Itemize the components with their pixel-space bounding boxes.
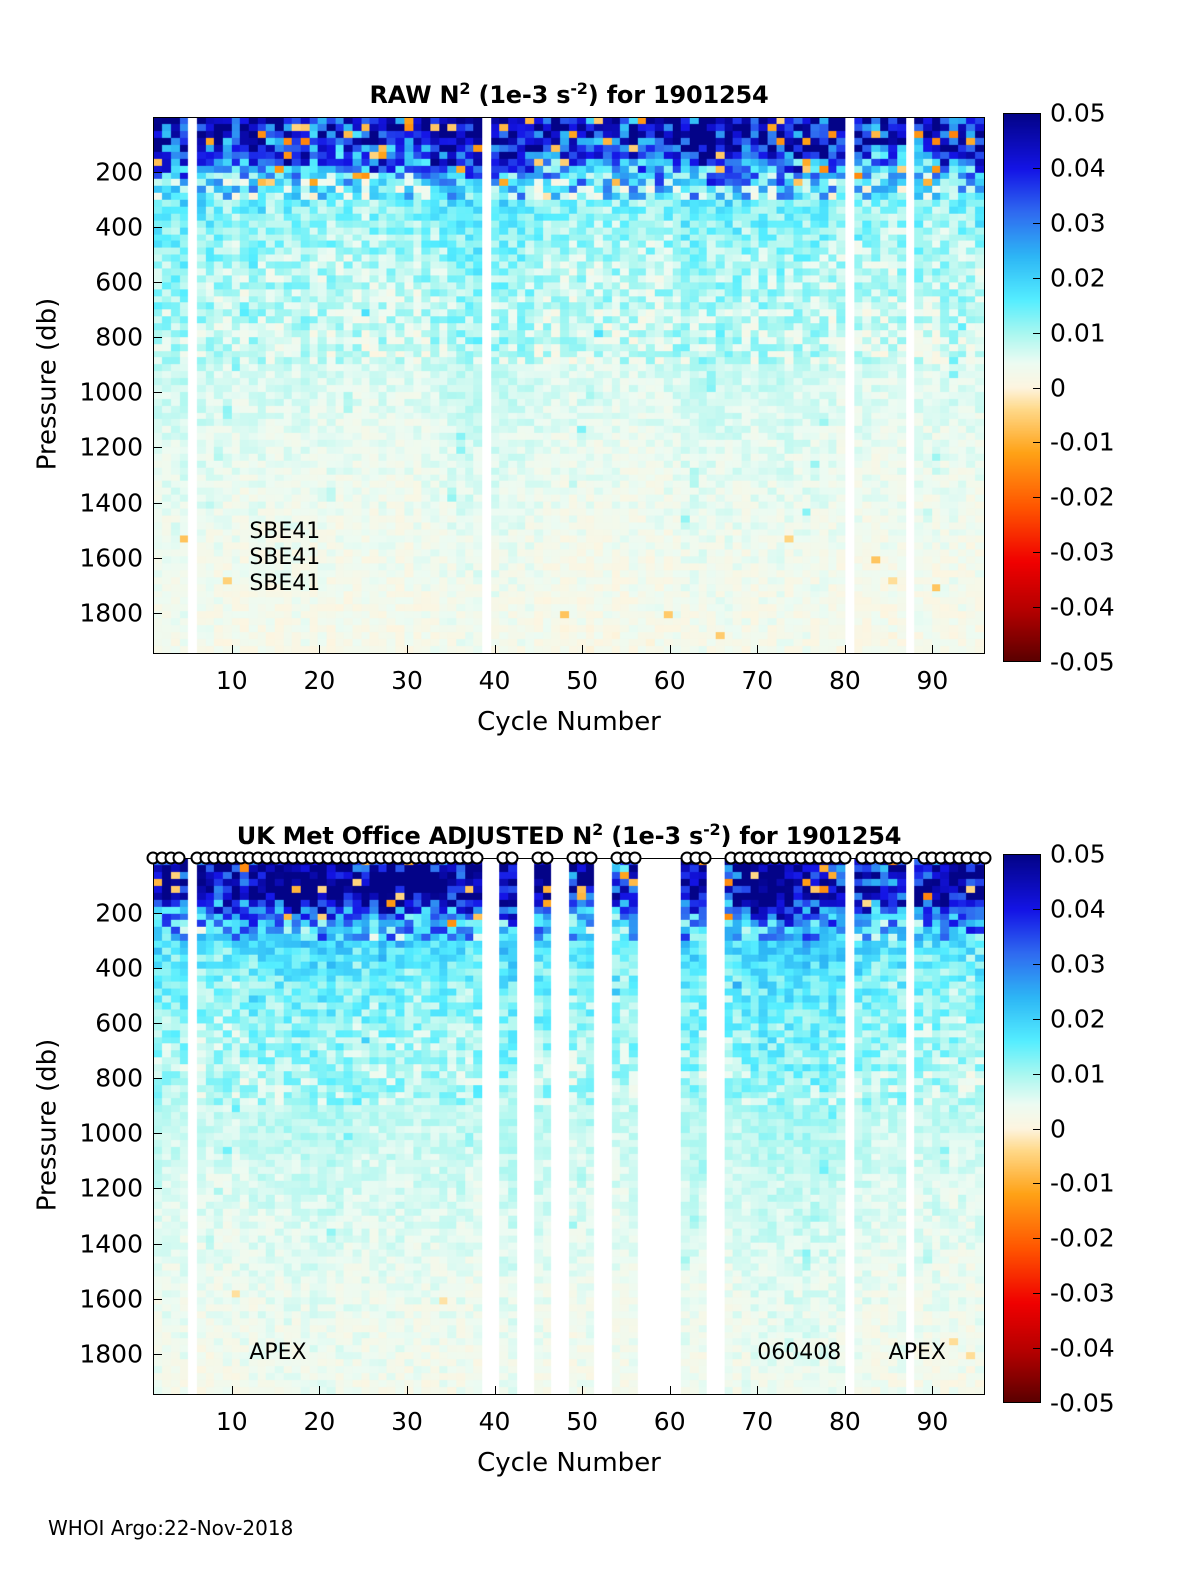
- x-tick-label: 70: [741, 1407, 773, 1436]
- y-tick-mark: [153, 227, 162, 228]
- y-tick-mark: [153, 913, 162, 914]
- y-tick-mark: [153, 1188, 162, 1189]
- plot-annotation: SBE41: [249, 519, 320, 544]
- colorbar-tick-mark: [1033, 333, 1041, 334]
- colorbar-tick-label: -0.03: [1050, 1279, 1115, 1308]
- y-tick-label: 600: [57, 268, 143, 297]
- title-text-mid: (1e-3 s: [470, 81, 570, 109]
- colorbar-tick-label: -0.01: [1050, 428, 1115, 457]
- y-tick-label: 1600: [57, 1284, 143, 1313]
- x-tick-mark: [407, 645, 408, 654]
- y-tick-mark: [153, 1078, 162, 1079]
- x-tick-mark: [407, 1386, 408, 1395]
- title-superscript-1: 2: [592, 820, 603, 839]
- y-tick-label: 400: [57, 954, 143, 983]
- colorbar-tick-mark: [1033, 223, 1041, 224]
- x-tick-label: 90: [917, 1407, 949, 1436]
- y-tick-mark: [153, 282, 162, 283]
- plot-annotation: SBE41: [249, 571, 320, 596]
- x-tick-label: 40: [479, 1407, 511, 1436]
- title-text-main: UK Met Office ADJUSTED N: [237, 822, 592, 850]
- panel-raw-title: RAW N2 (1e-3 s-2) for 1901254: [153, 79, 985, 109]
- colorbar-tick-label: 0.02: [1050, 1004, 1106, 1033]
- colorbar-tick-label: 0.04: [1050, 153, 1106, 182]
- x-tick-mark: [670, 645, 671, 654]
- colorbar-tick-label: 0.01: [1050, 1059, 1106, 1088]
- title-superscript-2: -2: [570, 79, 587, 98]
- colorbar-tick-mark: [1033, 964, 1041, 965]
- y-tick-label: 1200: [57, 433, 143, 462]
- y-tick-mark: [153, 392, 162, 393]
- colorbar-tick-label: 0.05: [1050, 99, 1106, 128]
- colorbar-tick-label: 0.05: [1050, 840, 1106, 869]
- title-text-end: ) for 1901254: [720, 822, 901, 850]
- x-tick-label: 80: [829, 1407, 861, 1436]
- y-tick-mark: [153, 1244, 162, 1245]
- colorbar-tick-mark: [1033, 1074, 1041, 1075]
- x-tick-label: 10: [216, 666, 248, 695]
- title-text-end: ) for 1901254: [588, 81, 769, 109]
- x-tick-mark: [582, 645, 583, 654]
- y-tick-label: 1400: [57, 488, 143, 517]
- title-text-mid: (1e-3 s: [603, 822, 703, 850]
- x-tick-mark: [757, 645, 758, 654]
- colorbar-tick-label: 0.03: [1050, 208, 1106, 237]
- x-tick-label: 90: [917, 666, 949, 695]
- y-tick-label: 1800: [57, 598, 143, 627]
- colorbar-tick-mark: [1033, 1129, 1041, 1130]
- panel-adjusted-title: UK Met Office ADJUSTED N2 (1e-3 s-2) for…: [153, 820, 985, 850]
- x-tick-label: 70: [741, 666, 773, 695]
- x-tick-mark: [932, 645, 933, 654]
- x-tick-label: 60: [654, 666, 686, 695]
- plot-annotation: APEX: [889, 1340, 946, 1365]
- x-tick-mark: [319, 1386, 320, 1395]
- y-tick-mark: [153, 613, 162, 614]
- colorbar-tick-label: 0.02: [1050, 263, 1106, 292]
- y-tick-label: 400: [57, 213, 143, 242]
- x-tick-label: 40: [479, 666, 511, 695]
- y-tick-mark: [153, 503, 162, 504]
- colorbar-tick-label: 0.04: [1050, 894, 1106, 923]
- colorbar-tick-mark: [1033, 909, 1041, 910]
- x-axis-label-adjusted: Cycle Number: [153, 1448, 985, 1478]
- y-tick-mark: [153, 558, 162, 559]
- x-tick-label: 50: [566, 666, 598, 695]
- x-tick-label: 20: [303, 666, 335, 695]
- y-tick-mark: [153, 1354, 162, 1355]
- x-tick-mark: [757, 1386, 758, 1395]
- x-tick-label: 50: [566, 1407, 598, 1436]
- colorbar-tick-mark: [1033, 442, 1041, 443]
- x-tick-label: 10: [216, 1407, 248, 1436]
- x-tick-mark: [932, 1386, 933, 1395]
- colorbar-tick-mark: [1033, 1293, 1041, 1294]
- figure-footer: WHOI Argo:22-Nov-2018: [48, 1516, 293, 1540]
- colorbar-tick-label: 0.03: [1050, 949, 1106, 978]
- y-tick-mark: [153, 1299, 162, 1300]
- title-superscript-2: -2: [703, 820, 720, 839]
- colorbar-tick-label: -0.04: [1050, 1334, 1115, 1363]
- title-text-main: RAW N: [370, 81, 460, 109]
- y-tick-mark: [153, 968, 162, 969]
- x-tick-label: 30: [391, 666, 423, 695]
- y-tick-mark: [153, 337, 162, 338]
- colorbar-tick-label: -0.05: [1050, 648, 1115, 677]
- x-tick-label: 30: [391, 1407, 423, 1436]
- x-tick-mark: [232, 1386, 233, 1395]
- x-tick-mark: [319, 645, 320, 654]
- panel-raw: RAW N2 (1e-3 s-2) for 1901254 Pressure (…: [0, 0, 1200, 760]
- x-axis-label-raw: Cycle Number: [153, 707, 985, 737]
- x-tick-label: 80: [829, 666, 861, 695]
- y-tick-mark: [153, 447, 162, 448]
- y-tick-label: 1400: [57, 1229, 143, 1258]
- title-superscript-1: 2: [459, 79, 470, 98]
- x-tick-mark: [495, 645, 496, 654]
- y-tick-label: 1200: [57, 1174, 143, 1203]
- colorbar-tick-label: -0.03: [1050, 538, 1115, 567]
- colorbar-tick-label: -0.02: [1050, 1224, 1115, 1253]
- colorbar-tick-label: -0.01: [1050, 1169, 1115, 1198]
- y-tick-mark: [153, 172, 162, 173]
- colorbar-tick-mark: [1033, 552, 1041, 553]
- y-tick-label: 800: [57, 1064, 143, 1093]
- colorbar-tick-mark: [1033, 168, 1041, 169]
- x-tick-mark: [670, 1386, 671, 1395]
- x-tick-mark: [845, 1386, 846, 1395]
- y-tick-label: 800: [57, 323, 143, 352]
- colorbar-tick-label: 0: [1050, 373, 1066, 402]
- colorbar-tick-label: 0.01: [1050, 318, 1106, 347]
- colorbar-tick-mark: [1033, 497, 1041, 498]
- y-tick-mark: [153, 1133, 162, 1134]
- colorbar-tick-mark: [1033, 1348, 1041, 1349]
- x-tick-mark: [495, 1386, 496, 1395]
- x-tick-label: 60: [654, 1407, 686, 1436]
- y-tick-label: 1800: [57, 1339, 143, 1368]
- y-tick-label: 200: [57, 158, 143, 187]
- x-tick-mark: [232, 645, 233, 654]
- colorbar-tick-label: -0.02: [1050, 483, 1115, 512]
- colorbar-tick-label: -0.04: [1050, 593, 1115, 622]
- colorbar-tick-mark: [1033, 1238, 1041, 1239]
- colorbar-tick-mark: [1033, 607, 1041, 608]
- colorbar-tick-label: 0: [1050, 1114, 1066, 1143]
- y-tick-label: 1600: [57, 543, 143, 572]
- x-tick-mark: [582, 1386, 583, 1395]
- y-tick-label: 600: [57, 1009, 143, 1038]
- colorbar-tick-mark: [1033, 388, 1041, 389]
- x-tick-mark: [845, 645, 846, 654]
- y-tick-label: 1000: [57, 1119, 143, 1148]
- colorbar-tick-mark: [1033, 1019, 1041, 1020]
- y-tick-label: 1000: [57, 378, 143, 407]
- plot-annotation: 060408: [757, 1340, 841, 1365]
- colorbar-tick-mark: [1033, 278, 1041, 279]
- y-tick-mark: [153, 1023, 162, 1024]
- x-tick-label: 20: [303, 1407, 335, 1436]
- panel-adjusted: UK Met Office ADJUSTED N2 (1e-3 s-2) for…: [0, 760, 1200, 1500]
- colorbar-tick-mark: [1033, 1183, 1041, 1184]
- plot-annotation: APEX: [249, 1340, 306, 1365]
- heatmap-plot-adjusted[interactable]: [153, 858, 985, 1395]
- plot-annotation: SBE41: [249, 545, 320, 570]
- y-tick-label: 200: [57, 899, 143, 928]
- colorbar-tick-label: -0.05: [1050, 1389, 1115, 1418]
